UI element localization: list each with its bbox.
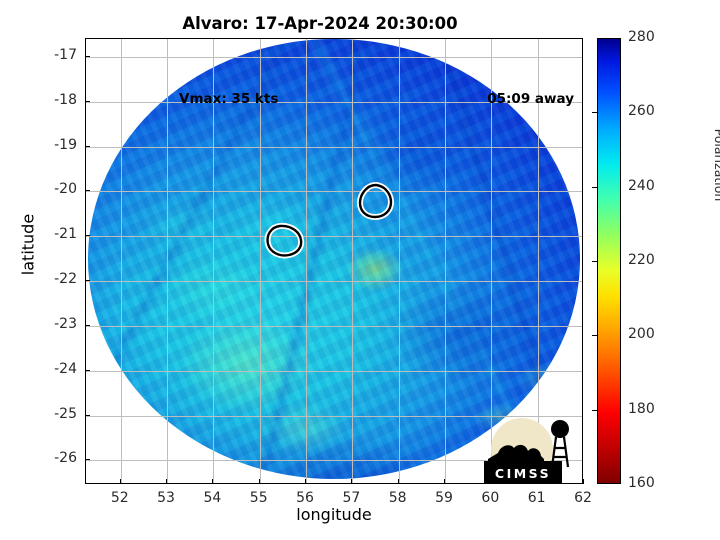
gridline-horizontal bbox=[86, 191, 582, 192]
y-tick-mark bbox=[85, 101, 90, 102]
y-tick-label: -21 bbox=[31, 226, 77, 242]
x-tick-label: 55 bbox=[239, 490, 279, 506]
colorbar-label: Brightness Temp - Horizontal Polarizatio… bbox=[712, 50, 720, 280]
x-tick-mark bbox=[259, 479, 260, 484]
x-tick-mark bbox=[120, 479, 121, 484]
map-plot-area[interactable]: Vmax: 35 kts 05:09 away CIMSS bbox=[85, 38, 583, 484]
colorbar[interactable] bbox=[597, 38, 621, 484]
y-tick-mark bbox=[85, 325, 90, 326]
gridline-horizontal bbox=[86, 371, 582, 372]
colorbar-tick-label: 180 bbox=[628, 401, 655, 417]
y-axis-label: latitude bbox=[19, 195, 38, 295]
y-tick-mark bbox=[85, 415, 90, 416]
x-tick-mark bbox=[166, 479, 167, 484]
x-tick-label: 53 bbox=[146, 490, 186, 506]
gridline-horizontal bbox=[86, 147, 582, 148]
x-tick-label: 60 bbox=[470, 490, 510, 506]
x-tick-label: 61 bbox=[517, 490, 557, 506]
y-tick-mark bbox=[85, 459, 90, 460]
x-tick-label: 56 bbox=[285, 490, 325, 506]
x-tick-mark bbox=[398, 479, 399, 484]
y-tick-label: -25 bbox=[31, 406, 77, 422]
colorbar-tick-label: 240 bbox=[628, 178, 655, 194]
colorbar-tick-mark bbox=[592, 112, 597, 113]
gridline-horizontal bbox=[86, 236, 582, 237]
y-tick-mark bbox=[85, 235, 90, 236]
x-tick-mark bbox=[583, 479, 584, 484]
x-tick-mark bbox=[212, 479, 213, 484]
colorbar-tick-mark bbox=[592, 187, 597, 188]
x-tick-mark bbox=[444, 479, 445, 484]
gridline-horizontal bbox=[86, 281, 582, 282]
island-contour-north bbox=[352, 179, 398, 225]
gridline-horizontal bbox=[86, 57, 582, 58]
x-tick-label: 57 bbox=[331, 490, 371, 506]
cimss-logo: CIMSS bbox=[474, 415, 582, 483]
cimss-logo-text: CIMSS bbox=[495, 466, 551, 481]
y-tick-label: -23 bbox=[31, 316, 77, 332]
colorbar-tick-label: 200 bbox=[628, 326, 655, 342]
x-tick-label: 54 bbox=[192, 490, 232, 506]
colorbar-tick-label: 220 bbox=[628, 252, 655, 268]
y-tick-label: -17 bbox=[31, 47, 77, 63]
y-tick-label: -26 bbox=[31, 450, 77, 466]
colorbar-tick-label: 280 bbox=[628, 29, 655, 45]
x-tick-label: 58 bbox=[378, 490, 418, 506]
y-tick-label: -24 bbox=[31, 361, 77, 377]
figure-canvas: Alvaro: 17-Apr-2024 20:30:00 Vmax: 35 bbox=[0, 0, 720, 540]
y-tick-mark bbox=[85, 280, 90, 281]
y-tick-mark bbox=[85, 190, 90, 191]
x-tick-label: 62 bbox=[563, 490, 603, 506]
colorbar-tick-label: 160 bbox=[628, 475, 655, 491]
y-tick-label: -18 bbox=[31, 92, 77, 108]
island-contour-south bbox=[260, 220, 310, 264]
colorbar-tick-mark bbox=[592, 335, 597, 336]
colorbar-tick-mark bbox=[592, 261, 597, 262]
y-tick-mark bbox=[85, 370, 90, 371]
y-tick-label: -19 bbox=[31, 137, 77, 153]
colorbar-tick-label: 260 bbox=[628, 103, 655, 119]
x-axis-label: longitude bbox=[85, 505, 583, 524]
y-tick-mark bbox=[85, 146, 90, 147]
figure-title: Alvaro: 17-Apr-2024 20:30:00 bbox=[0, 14, 640, 33]
y-tick-mark bbox=[85, 56, 90, 57]
x-tick-label: 52 bbox=[100, 490, 140, 506]
gridline-horizontal bbox=[86, 326, 582, 327]
x-tick-mark bbox=[490, 479, 491, 484]
x-tick-mark bbox=[537, 479, 538, 484]
x-tick-mark bbox=[351, 479, 352, 484]
vmax-annotation: Vmax: 35 kts bbox=[179, 91, 278, 107]
y-tick-label: -22 bbox=[31, 271, 77, 287]
colorbar-tick-mark bbox=[592, 410, 597, 411]
x-tick-label: 59 bbox=[424, 490, 464, 506]
y-tick-label: -20 bbox=[31, 181, 77, 197]
x-tick-mark bbox=[305, 479, 306, 484]
time-away-annotation: 05:09 away bbox=[487, 91, 574, 107]
